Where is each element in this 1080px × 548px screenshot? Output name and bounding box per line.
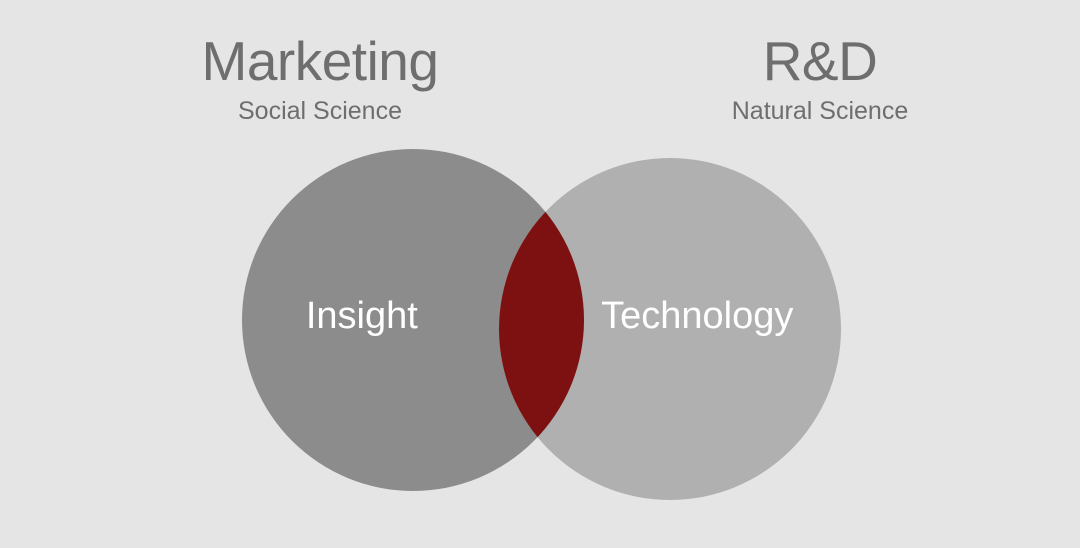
venn-label-technology: Technology <box>601 295 793 337</box>
venn-diagram-graphic: Insight Technology <box>0 0 1080 548</box>
venn-label-insight: Insight <box>306 295 418 337</box>
venn-diagram-slide: Marketing Social Science R&D Natural Sci… <box>0 0 1080 548</box>
